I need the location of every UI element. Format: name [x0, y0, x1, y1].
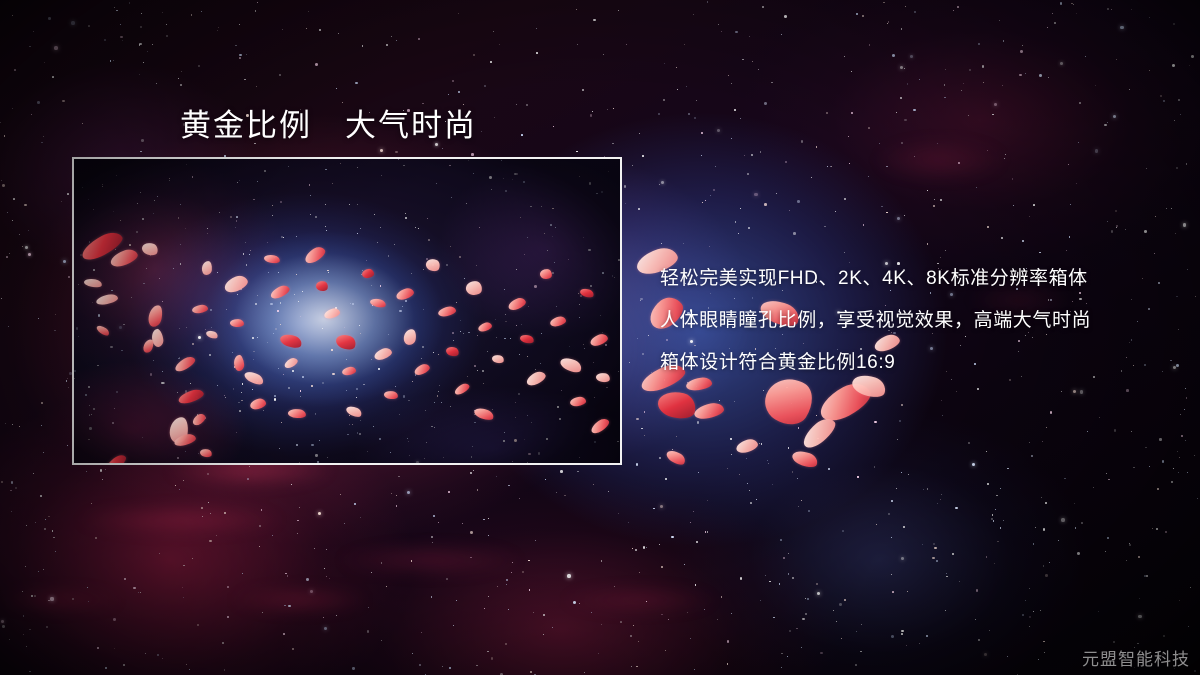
petal	[230, 319, 245, 328]
body-line-3: 箱体设计符合黄金比例16:9	[660, 342, 1160, 384]
body-text-block: 轻松完美实现FHD、2K、4K、8K标准分辨率箱体 人体眼睛瞳孔比例，享受视觉效…	[660, 258, 1160, 384]
watermark: 元盟智能科技	[1082, 645, 1190, 670]
page-title: 黄金比例 大气时尚	[180, 100, 477, 145]
body-line-1: 轻松完美实现FHD、2K、4K、8K标准分辨率箱体	[660, 258, 1160, 300]
body-line-2: 人体眼睛瞳孔比例，享受视觉效果，高端大气时尚	[660, 300, 1160, 342]
framed-image-panel	[72, 157, 622, 465]
presentation-slide: 黄金比例 大气时尚 轻松完美实现FHD、2K、4K、8K标准分辨率箱体 人体眼睛…	[0, 0, 1200, 675]
